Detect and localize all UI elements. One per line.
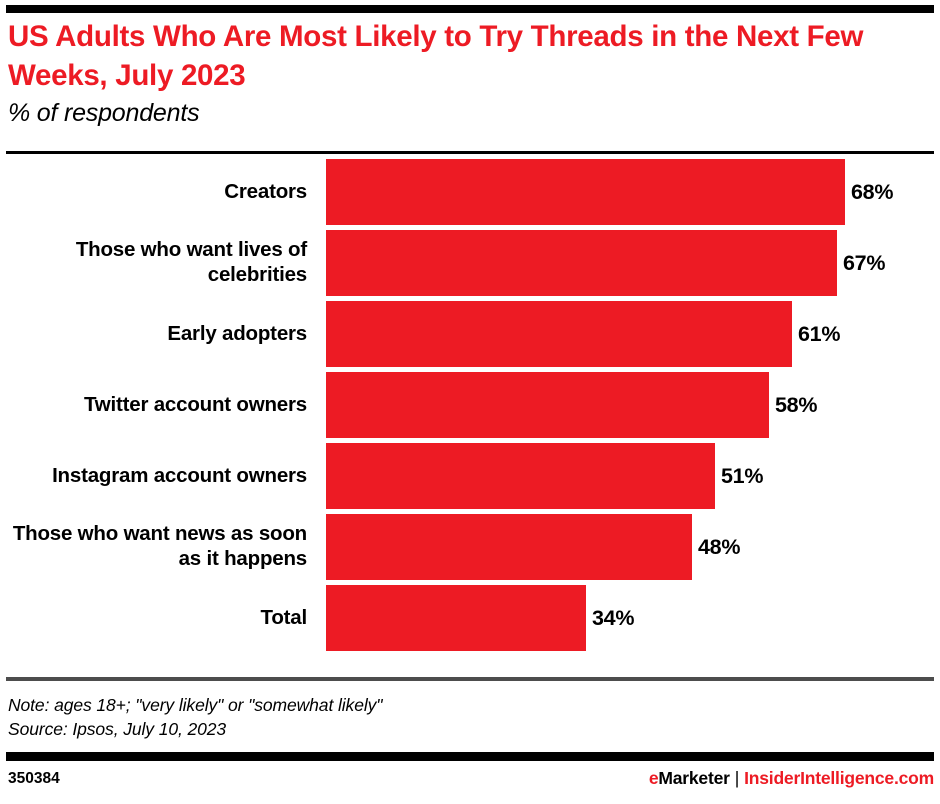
plot-bottom-divider xyxy=(6,677,934,681)
chart-row: Early adopters61% xyxy=(0,301,940,367)
brand-website-link[interactable]: InsiderIntelligence.com xyxy=(744,768,934,788)
brand-marketer: Marketer xyxy=(658,768,729,788)
category-label: Those who want lives of celebrities xyxy=(0,230,307,296)
chart-row: Twitter account owners58% xyxy=(0,372,940,438)
bar-value-label: 68% xyxy=(845,159,893,225)
chart-subtitle: % of respondents xyxy=(8,98,928,128)
source-line: Source: Ipsos, July 10, 2023 xyxy=(8,718,908,742)
category-label: Instagram account owners xyxy=(0,443,307,509)
chart-row: Those who want news as soon as it happen… xyxy=(0,514,940,580)
bar xyxy=(326,585,586,651)
chart-row: Total34% xyxy=(0,585,940,651)
bar-value-label: 67% xyxy=(837,230,885,296)
bar-chart-plot: Creators68%Those who want lives of celeb… xyxy=(0,159,940,667)
bar-value-label: 51% xyxy=(715,443,763,509)
chart-page: US Adults Who Are Most Likely to Try Thr… xyxy=(0,0,940,804)
brand-separator: | xyxy=(730,768,744,788)
footer-divider xyxy=(6,752,934,761)
chart-header: US Adults Who Are Most Likely to Try Thr… xyxy=(8,18,928,128)
chart-row: Instagram account owners51% xyxy=(0,443,940,509)
category-label: Those who want news as soon as it happen… xyxy=(0,514,307,580)
chart-footer: 350384 eMarketer|InsiderIntelligence.com xyxy=(0,766,940,798)
bar-value-label: 58% xyxy=(769,372,817,438)
chart-notes: Note: ages 18+; "very likely" or "somewh… xyxy=(8,694,908,741)
brand-logo[interactable]: eMarketer|InsiderIntelligence.com xyxy=(649,768,934,789)
bar-value-label: 34% xyxy=(586,585,634,651)
brand-e: e xyxy=(649,768,659,788)
bar xyxy=(326,443,715,509)
category-label: Early adopters xyxy=(0,301,307,367)
bar xyxy=(326,514,692,580)
bar xyxy=(326,372,769,438)
report-id: 350384 xyxy=(8,770,60,788)
chart-row: Creators68% xyxy=(0,159,940,225)
note-line: Note: ages 18+; "very likely" or "somewh… xyxy=(8,694,908,718)
bar-value-label: 61% xyxy=(792,301,840,367)
page-title: US Adults Who Are Most Likely to Try Thr… xyxy=(8,18,888,96)
category-label: Total xyxy=(0,585,307,651)
bar xyxy=(326,301,792,367)
bar-value-label: 48% xyxy=(692,514,740,580)
category-label: Creators xyxy=(0,159,307,225)
header-divider xyxy=(6,151,934,154)
category-label: Twitter account owners xyxy=(0,372,307,438)
bar xyxy=(326,159,845,225)
bar xyxy=(326,230,837,296)
chart-row: Those who want lives of celebrities67% xyxy=(0,230,940,296)
top-divider xyxy=(6,5,934,13)
